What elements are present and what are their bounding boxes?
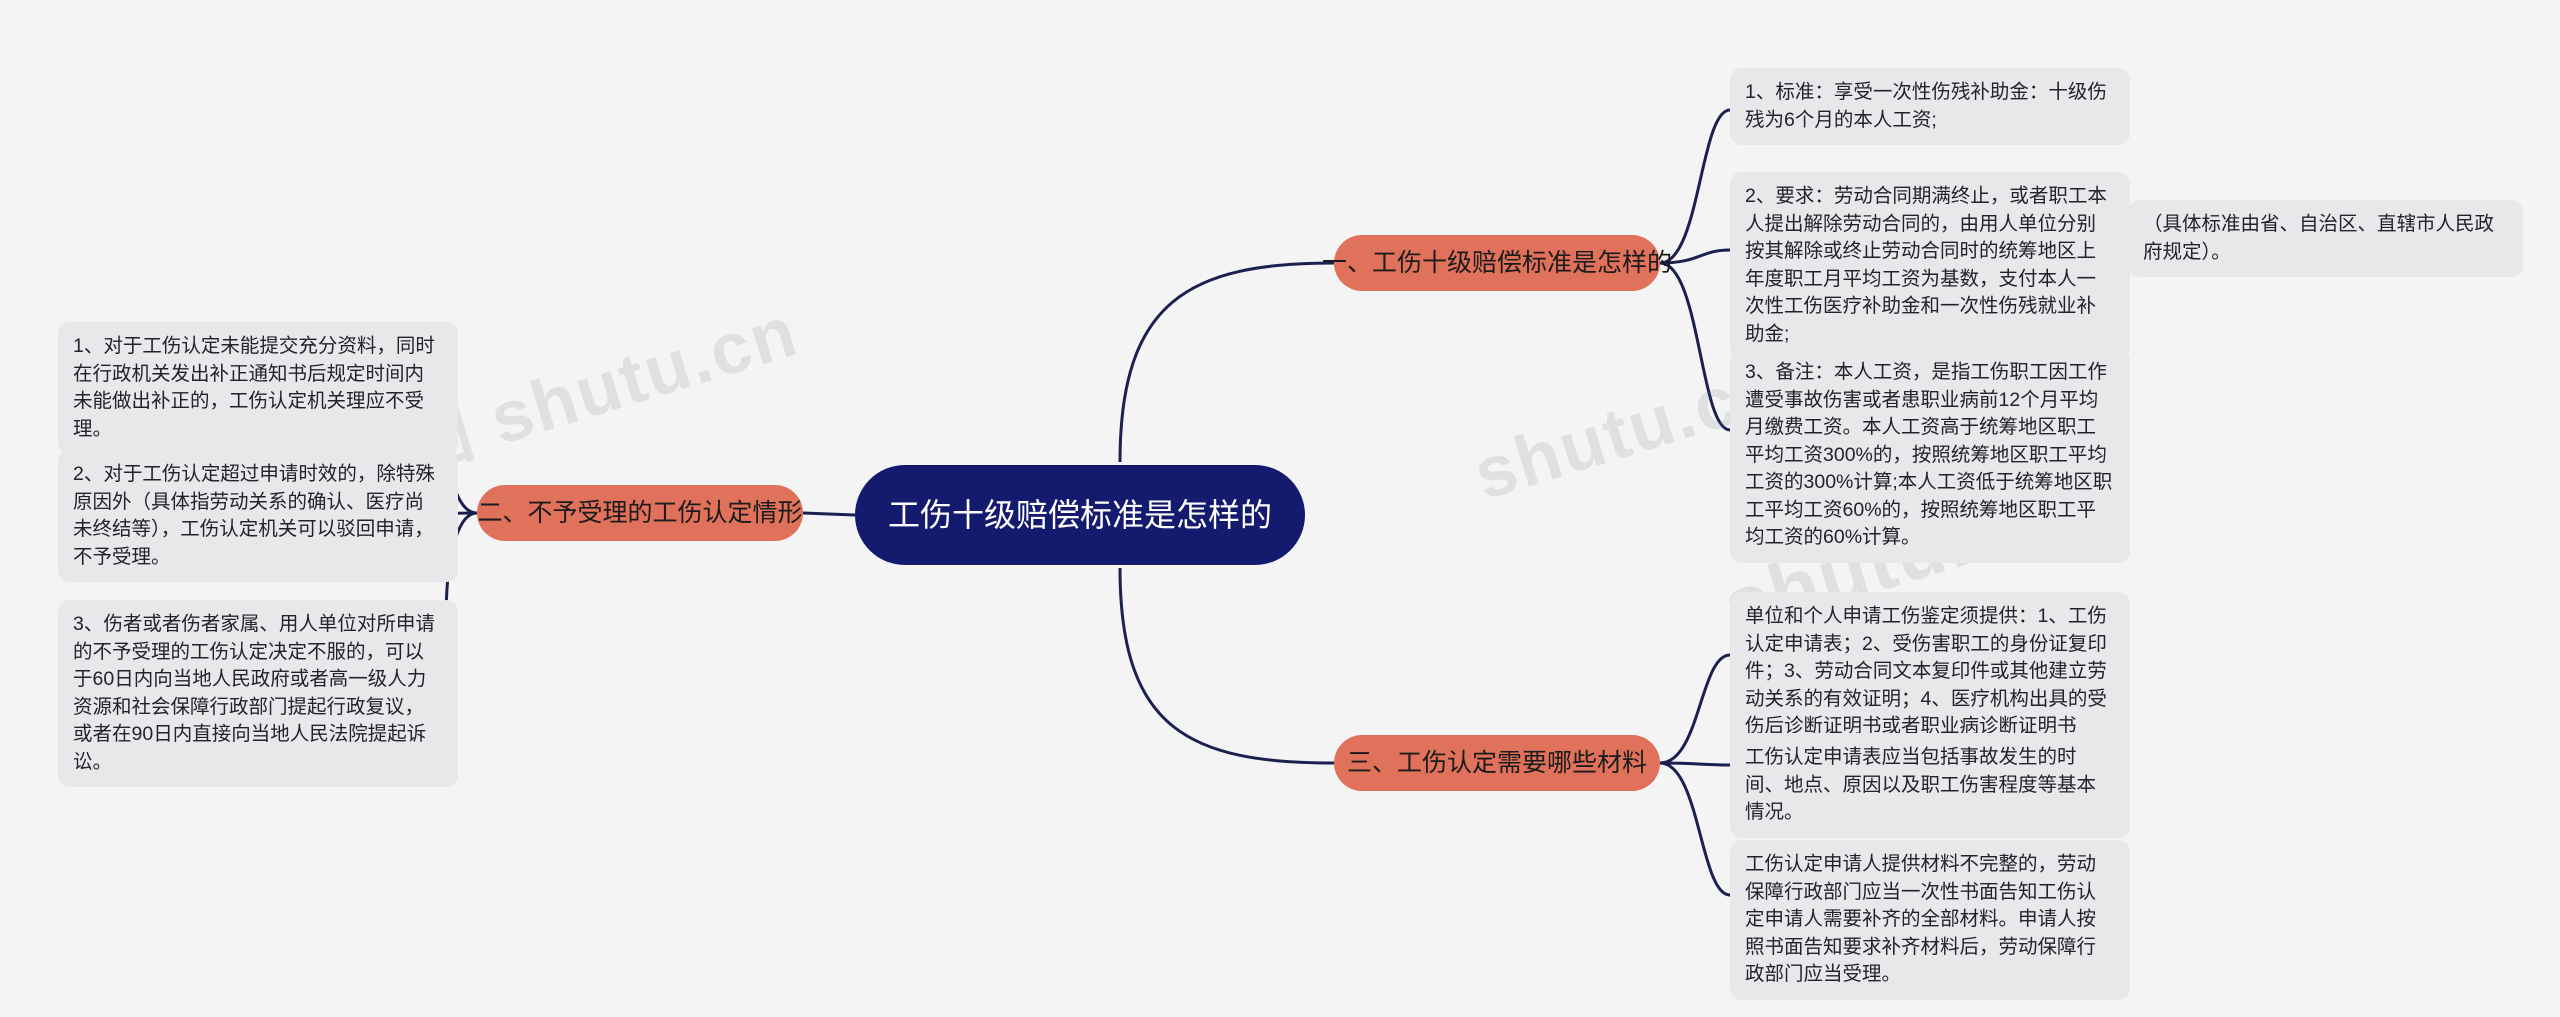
leaf-node-b3-2[interactable]: 工伤认定申请表应当包括事故发生的时间、地点、原因以及职工伤害程度等基本情况。 xyxy=(1730,733,2130,838)
leaf-node-b3-3[interactable]: 工伤认定申请人提供材料不完整的，劳动保障行政部门应当一次性书面告知工伤认定申请人… xyxy=(1730,840,2130,1000)
mindmap-canvas: 图 shutu.cn shutu.cn shutu.c 树图 工伤十级赔偿标准是… xyxy=(0,0,2560,1017)
leaf-node-b1-2-sub[interactable]: （具体标准由省、自治区、直辖市人民政府规定）。 xyxy=(2128,200,2523,277)
root-node[interactable]: 工伤十级赔偿标准是怎样的 xyxy=(855,465,1305,565)
leaf-node-b2-3[interactable]: 3、伤者或者伤者家属、用人单位对所申请的不予受理的工伤认定决定不服的，可以于60… xyxy=(58,600,458,787)
branch-node-2[interactable]: 二、不予受理的工伤认定情形 xyxy=(477,485,803,541)
leaf-node-b1-3[interactable]: 3、备注：本人工资，是指工伤职工因工作遭受事故伤害或者患职业病前12个月平均月缴… xyxy=(1730,348,2130,563)
branch-node-1[interactable]: 一、工伤十级赔偿标准是怎样的 xyxy=(1334,235,1660,291)
leaf-node-b2-2[interactable]: 2、对于工伤认定超过申请时效的，除特殊原因外（具体指劳动关系的确认、医疗尚未终结… xyxy=(58,450,458,582)
leaf-node-b2-1[interactable]: 1、对于工伤认定未能提交充分资料，同时在行政机关发出补正通知书后规定时间内未能做… xyxy=(58,322,458,454)
leaf-node-b1-2[interactable]: 2、要求：劳动合同期满终止，或者职工本人提出解除劳动合同的，由用人单位分别按其解… xyxy=(1730,172,2130,359)
leaf-node-b1-1[interactable]: 1、标准：享受一次性伤残补助金：十级伤残为6个月的本人工资; xyxy=(1730,68,2130,145)
branch-node-3[interactable]: 三、工伤认定需要哪些材料 xyxy=(1334,735,1660,791)
